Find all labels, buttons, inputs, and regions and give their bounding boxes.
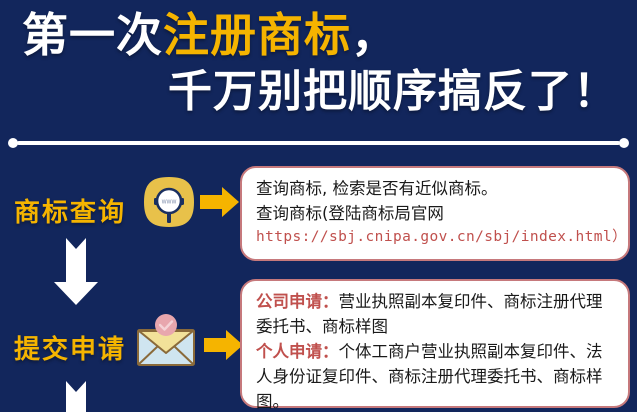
divider-rule [17, 141, 620, 145]
envelope-mail-icon [130, 312, 202, 368]
card-2-paragraph-individual: 个人申请：个体工商户营业执照副本复印件、法人身份证复印件、商标注册代理委托书、商… [256, 339, 616, 412]
title-segment-highlight: 注册商标 [163, 9, 351, 61]
step-label-trademark-search: 商标查询 [14, 192, 126, 229]
header-banner: 第一次注册商标， 千万别把顺序搞反了！ [0, 0, 637, 140]
step-label-submit-application: 提交申请 [14, 329, 126, 366]
magnifier-search-icon: WWW [143, 176, 195, 228]
divider-dot-right-icon [619, 138, 629, 148]
flow-arrow-down-2-icon [48, 381, 104, 412]
trademark-office-url[interactable]: https://sbj.cnipa.gov.cn/sbj/index.html [256, 229, 612, 245]
arrow-right-icon-step-2 [204, 328, 244, 362]
card-2-paragraph-company: 公司申请：营业执照副本复印件、商标注册代理委托书、商标样图 [256, 289, 616, 339]
individual-application-label: 个人申请： [256, 342, 339, 361]
title-segment-white: 第一次 [22, 9, 163, 61]
page-title-line-2: 千万别把顺序搞反了！ [168, 66, 618, 118]
arrow-right-icon-step-1 [200, 185, 240, 219]
svg-text:WWW: WWW [162, 200, 177, 206]
card-1-line-1: 查询商标, 检索是否有近似商标。 [256, 176, 616, 201]
title-segment-comma: ， [351, 9, 398, 61]
card-1-line-2: 查询商标(登陆商标局官网 [256, 201, 616, 226]
info-card-submit-application: 公司申请：营业执照副本复印件、商标注册代理委托书、商标样图 个人申请：个体工商户… [240, 279, 630, 408]
page-title-line-1: 第一次注册商标， [22, 8, 398, 62]
company-application-label: 公司申请： [256, 292, 339, 311]
info-card-trademark-search: 查询商标, 检索是否有近似商标。 查询商标(登陆商标局官网 https://sb… [240, 166, 630, 261]
card-1-url-suffix: ） [612, 229, 627, 245]
card-1-url-line: https://sbj.cnipa.gov.cn/sbj/index.html） [256, 226, 616, 249]
header-divider [8, 138, 629, 148]
